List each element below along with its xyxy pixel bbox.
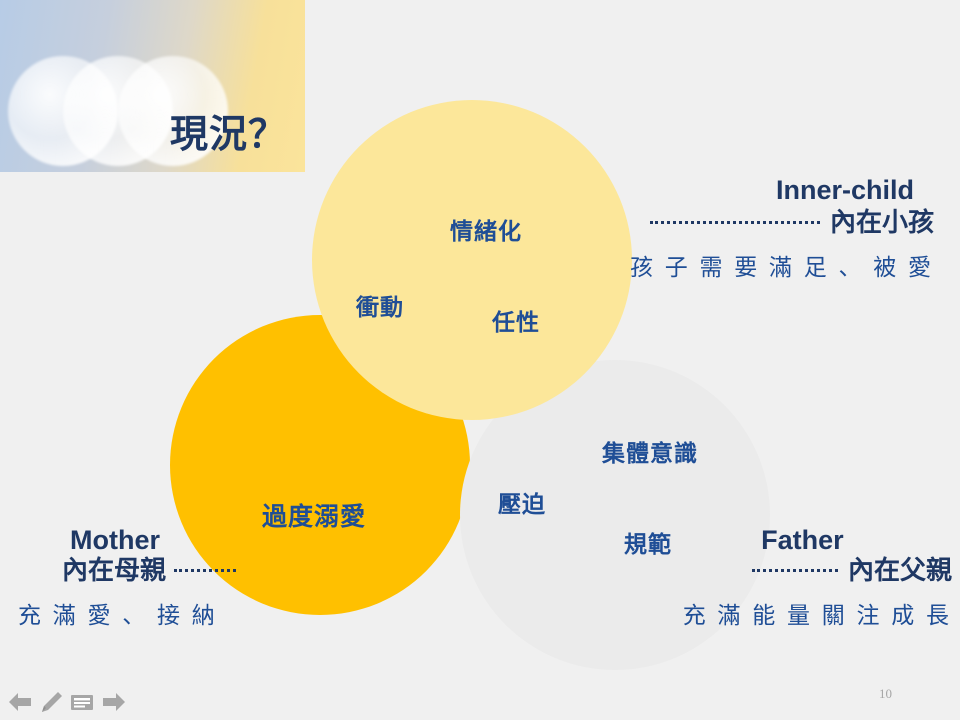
annotation-mother: Mother 內在母親 充 滿 愛 、 接 納 xyxy=(10,526,236,630)
annotation-mother-zh: 內在母親 xyxy=(62,556,166,586)
venn-circle-inner-child xyxy=(312,100,632,420)
label-emotional: 情緒化 xyxy=(450,212,522,246)
annotation-inner-child-zh: 內在小孩 xyxy=(830,208,934,238)
label-norms: 規範 xyxy=(624,525,672,559)
pencil-icon[interactable] xyxy=(38,690,64,714)
left-arrow-icon[interactable] xyxy=(6,690,34,714)
label-willful: 任性 xyxy=(492,303,540,337)
label-impulsive: 衝動 xyxy=(356,288,404,322)
label-collective-consciousness: 集體意識 xyxy=(602,434,698,468)
annotation-inner-child-row: 內在小孩 xyxy=(630,208,934,238)
label-oppression: 壓迫 xyxy=(498,485,546,519)
dotted-connector-line xyxy=(650,221,820,224)
annotation-inner-child-desc: 孩 子 需 要 滿 足 、 被 愛 xyxy=(630,248,934,282)
annotation-father-zh: 內在父親 xyxy=(848,556,952,586)
label-overindulgent: 過度溺愛 xyxy=(262,497,366,533)
slide-canvas: 現況？ 情緒化 衝動 任性 過度溺愛 壓迫 集體意識 規範 Inner-chil… xyxy=(0,0,960,720)
annotation-inner-child-en: Inner-child xyxy=(630,176,934,206)
annotation-father-row: 內在父親 xyxy=(683,556,952,586)
annotation-father-en: Father xyxy=(683,526,952,556)
dotted-connector-line xyxy=(174,569,236,572)
annotation-mother-row: 內在母親 xyxy=(10,556,236,586)
annotation-mother-desc: 充 滿 愛 、 接 納 xyxy=(10,596,236,630)
page-title: 現況？ xyxy=(170,116,287,154)
right-arrow-icon[interactable] xyxy=(100,690,128,714)
annotation-father-desc: 充 滿 能 量 關 注 成 長 xyxy=(683,596,952,630)
dotted-connector-line xyxy=(752,569,838,572)
slideshow-nav-controls[interactable] xyxy=(6,690,128,714)
annotation-father: Father 內在父親 充 滿 能 量 關 注 成 長 xyxy=(683,526,952,630)
notes-icon[interactable] xyxy=(68,690,96,714)
annotation-inner-child: Inner-child 內在小孩 孩 子 需 要 滿 足 、 被 愛 xyxy=(630,176,934,282)
annotation-mother-en: Mother xyxy=(10,526,220,556)
page-number: 10 xyxy=(879,686,892,702)
